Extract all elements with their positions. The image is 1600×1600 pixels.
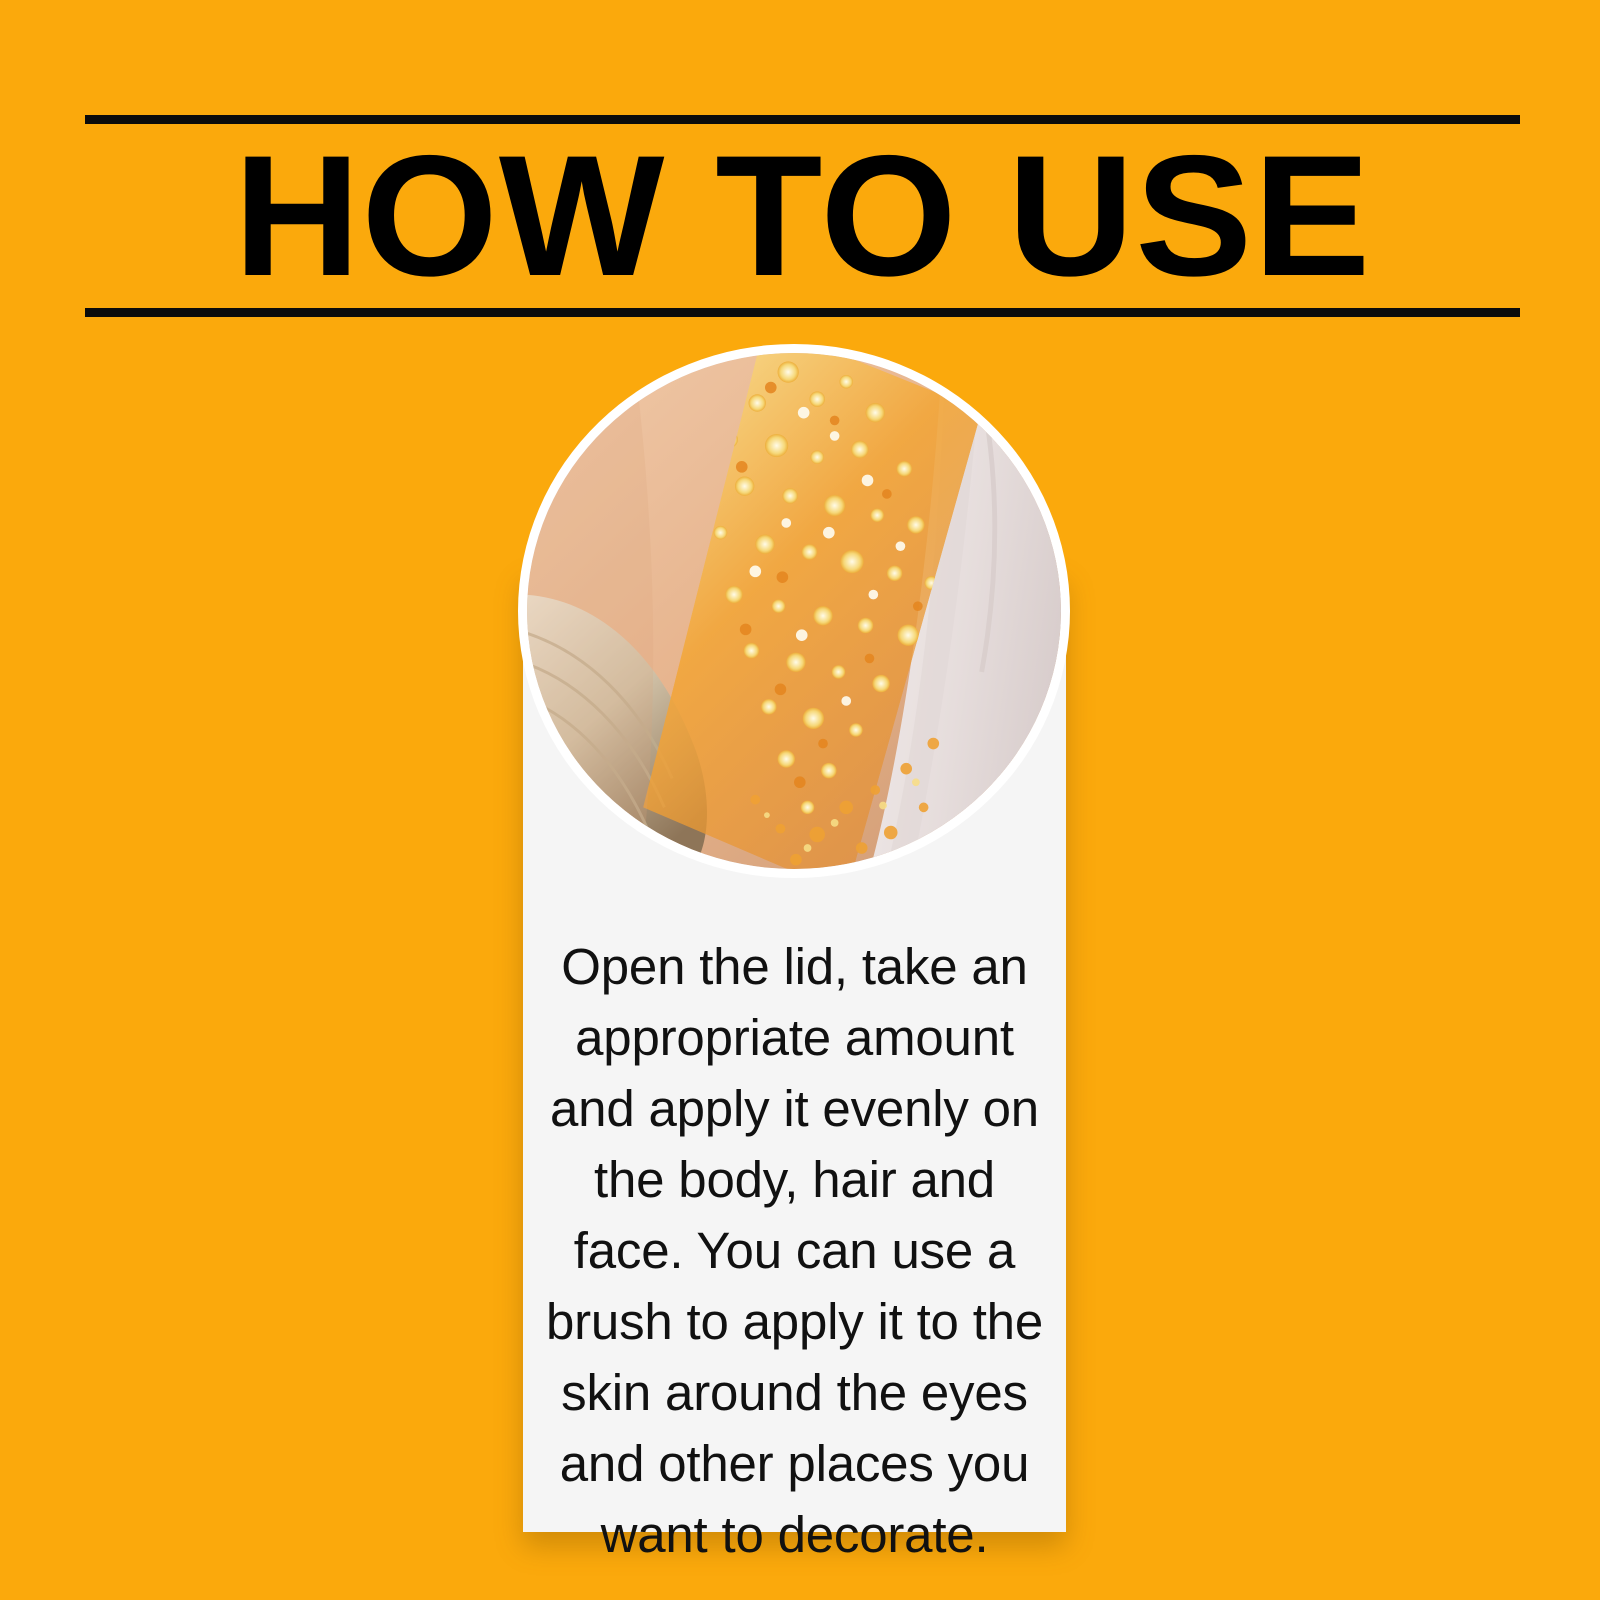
photo-illustration [527,353,1061,869]
how-to-use-poster: HOW TO USE [0,0,1600,1600]
header-block: HOW TO USE [85,115,1520,317]
photo-clip [527,353,1061,869]
page-title: HOW TO USE [71,124,1535,308]
instruction-text: Open the lid, take an appropriate amount… [523,931,1066,1570]
gold-glitter-on-shoulder-photo [518,344,1070,878]
